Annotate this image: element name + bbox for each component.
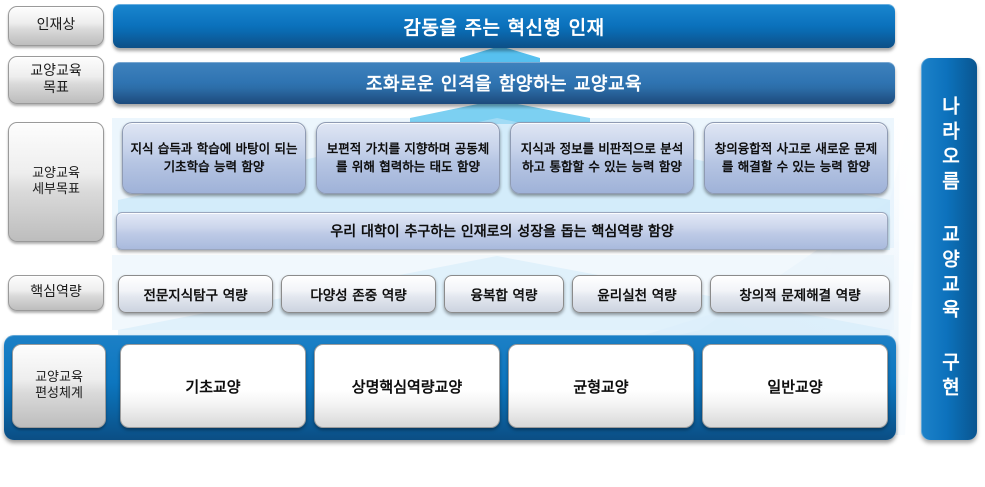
- competency-pill: 윤리실천 역량: [572, 275, 702, 313]
- label-detail-goals-text: 교양교육 세부목표: [32, 166, 80, 199]
- label-goal-line2: 목표: [43, 80, 69, 96]
- banner-vision: 감동을 주는 혁신형 인재: [113, 4, 895, 48]
- diagram-canvas: 인재상 감동을 주는 혁신형 인재 교양교육 목표 조화로운 인격을 함양하는 …: [0, 0, 985, 487]
- competency-pill-text: 창의적 문제해결 역량: [739, 284, 860, 304]
- label-detail-line1: 교양교육: [32, 166, 80, 181]
- competency-pill: 다양성 존중 역량: [281, 275, 436, 313]
- goal-box-text: 지식과 정보를 비판적으로 분석하고 통합할 수 있는 능력 함양: [517, 140, 687, 176]
- label-competencies-text: 핵심역량: [30, 284, 82, 302]
- goal-box: 창의융합적 사고로 새로운 문제를 해결할 수 있는 능력 함양: [704, 122, 888, 194]
- competency-pill: 창의적 문제해결 역량: [710, 275, 890, 313]
- goal-box-text: 창의융합적 사고로 새로운 문제를 해결할 수 있는 능력 함양: [711, 140, 881, 176]
- goal-box-text: 지식 습득과 학습에 바탕이 되는 기초학습 능력 함양: [129, 140, 299, 176]
- label-curriculum-line2: 편성체계: [35, 386, 83, 401]
- competency-pill-text: 전문지식탐구 역량: [143, 284, 247, 304]
- label-curriculum-line1: 교양교육: [35, 370, 83, 385]
- banner-goal-text: 조화로운 인격을 함양하는 교양교육: [366, 70, 642, 96]
- goal-box: 보편적 가치를 지향하며 공동체를 위해 협력하는 태도 함양: [316, 122, 500, 194]
- banner-vision-text: 감동을 주는 혁신형 인재: [403, 13, 604, 40]
- banner-goal: 조화로운 인격을 함양하는 교양교육: [113, 62, 895, 104]
- curriculum-card-text: 상명핵심역량교양: [352, 376, 462, 397]
- curriculum-card: 상명핵심역량교양: [314, 344, 500, 428]
- label-detail-line2: 세부목표: [32, 182, 80, 197]
- label-vision-text: 인재상: [37, 17, 76, 35]
- competency-pill-text: 융복합 역량: [471, 284, 538, 304]
- goal-box-text: 보편적 가치를 지향하며 공동체를 위해 협력하는 태도 함양: [323, 140, 493, 176]
- goal-box: 지식과 정보를 비판적으로 분석하고 통합할 수 있는 능력 함양: [510, 122, 694, 194]
- core-competency-summary-bar: 우리 대학이 추구하는 인재로의 성장을 돕는 핵심역량 함양: [116, 212, 888, 250]
- goal-box: 지식 습득과 학습에 바탕이 되는 기초학습 능력 함양: [122, 122, 306, 194]
- curriculum-card-text: 균형교양: [573, 376, 628, 397]
- curriculum-card: 일반교양: [702, 344, 888, 428]
- competency-pill: 전문지식탐구 역량: [118, 275, 273, 313]
- side-banner-text: 나라오름 교양교육 구현: [940, 96, 959, 402]
- label-chip-detail-goals: 교양교육 세부목표: [8, 122, 104, 242]
- label-chip-competencies: 핵심역량: [8, 275, 104, 311]
- competency-pill-text: 다양성 존중 역량: [310, 284, 406, 304]
- curriculum-card-text: 일반교양: [767, 376, 822, 397]
- label-chip-vision: 인재상: [8, 6, 104, 46]
- label-goal-line1: 교양교육: [30, 63, 82, 79]
- core-competency-summary-text: 우리 대학이 추구하는 인재로의 성장을 돕는 핵심역량 함양: [330, 221, 673, 241]
- curriculum-card-text: 기초교양: [185, 376, 240, 397]
- side-banner: 나라오름 교양교육 구현: [921, 58, 977, 440]
- label-goal-text: 교양교육 목표: [30, 63, 82, 98]
- curriculum-card: 기초교양: [120, 344, 306, 428]
- competency-pill-text: 윤리실천 역량: [597, 284, 676, 304]
- competency-pill: 융복합 역량: [444, 275, 564, 313]
- label-chip-goal: 교양교육 목표: [8, 56, 104, 104]
- curriculum-card: 균형교양: [508, 344, 694, 428]
- label-chip-curriculum: 교양교육 편성체계: [12, 344, 106, 428]
- label-curriculum-text: 교양교육 편성체계: [35, 370, 83, 403]
